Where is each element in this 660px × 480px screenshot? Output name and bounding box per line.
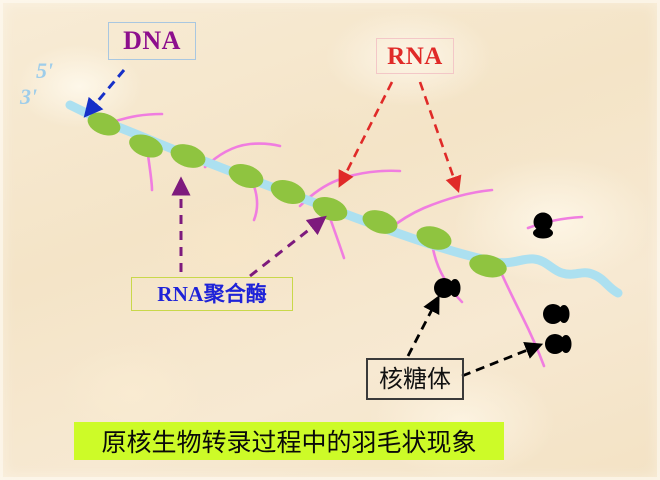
rna-transcript-4 (254, 186, 257, 220)
ribosome-group (434, 213, 572, 355)
arrow-rna-pointer-right (420, 82, 458, 190)
rna-label: RNA (376, 38, 454, 74)
three-prime-end-label: 3' (20, 84, 37, 110)
ribosome-1-large-subunit (534, 213, 553, 232)
diagram-canvas: 5' 3' DNA RNA RNA聚合酶 核糖体 原核生物转录过程中的羽毛状现象 (0, 0, 660, 480)
rna-transcript-6 (330, 218, 344, 258)
ribosome-2-large-subunit (434, 278, 454, 298)
arrow-polymerase-pointer-diagonal (250, 218, 324, 276)
dna-strand (70, 105, 618, 293)
arrow-ribosome-pointer-right (462, 345, 540, 376)
rna-polymerase-group (84, 108, 508, 280)
arrow-dna-pointer (86, 70, 124, 115)
ribosome-4-large-subunit (545, 334, 565, 354)
ribosome-4 (545, 334, 572, 354)
ribosome-2 (434, 278, 461, 298)
diagram-caption: 原核生物转录过程中的羽毛状现象 (74, 422, 504, 460)
ribosome-3-large-subunit (543, 304, 563, 324)
ribosome-3 (543, 304, 570, 324)
dna-label: DNA (108, 22, 196, 60)
five-prime-end-label: 5' (36, 58, 53, 84)
rna-transcript-2 (148, 155, 152, 190)
ribosome-1 (533, 213, 553, 239)
rna-polymerase-label-latin: RNA (157, 284, 203, 305)
rna-polymerase-label: RNA聚合酶 (131, 277, 293, 311)
ribosome-label: 核糖体 (366, 358, 464, 400)
rna-polymerase-label-cjk: 聚合酶 (204, 284, 267, 305)
arrow-ribosome-pointer-up (408, 298, 438, 356)
diagram-artwork (0, 0, 660, 480)
rna-transcript-7 (388, 190, 492, 230)
